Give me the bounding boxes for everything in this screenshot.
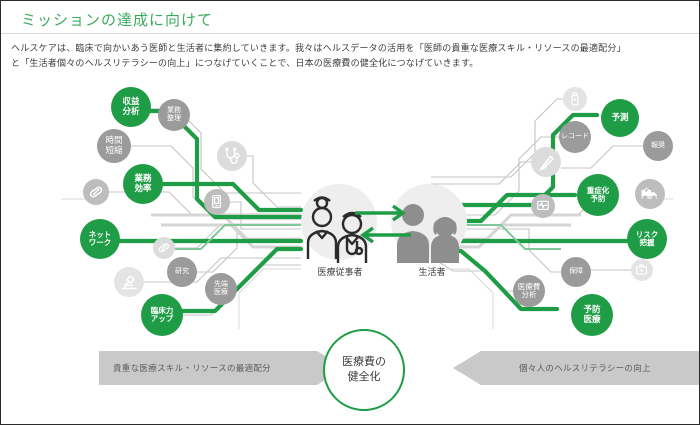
node-label: 重症化予防 xyxy=(587,187,610,204)
right-outcome-ribbon: 個々人のヘルスリテラシーの向上 xyxy=(453,351,700,385)
microscope-icon[interactable] xyxy=(114,267,144,297)
medkit-icon[interactable] xyxy=(631,259,653,281)
node-advanced-medicine[interactable]: 先端医療 xyxy=(205,273,237,305)
node-label-line: 把握 xyxy=(636,239,659,247)
node-risk-grasp[interactable]: リスク把握 xyxy=(627,219,667,259)
node-label-line: 先端 xyxy=(214,281,228,289)
node-label-line: 短縮 xyxy=(105,146,122,156)
node-label: 予防医療 xyxy=(583,305,600,324)
node-label: 先端医療 xyxy=(214,281,228,297)
node-label: 時間短縮 xyxy=(105,136,122,155)
node-label: 収益分析 xyxy=(122,97,139,116)
lead-line-2: と「生活者個々のヘルスリテラシーの向上」につなげていくことで、日本の医療費の健全… xyxy=(11,56,691,71)
node-label: 医療費分析 xyxy=(518,283,541,300)
node-work-efficiency[interactable]: 業務効率 xyxy=(123,164,163,204)
bottle-icon[interactable] xyxy=(563,87,587,111)
node-label: 研究 xyxy=(175,268,189,276)
node-label-line: 報奨 xyxy=(651,142,665,150)
node-label: レコード xyxy=(561,133,589,141)
node-insurance[interactable]: 保障 xyxy=(561,257,591,287)
node-label-line: レコード xyxy=(561,133,589,141)
node-prediction[interactable]: 予測 xyxy=(601,99,639,137)
lead-line-1: ヘルスケアは、臨床で向かいあう医師と生活者に集約していきます。我々はヘルスデータ… xyxy=(11,41,691,56)
node-label: ネットワーク xyxy=(89,231,112,248)
node-label: 報奨 xyxy=(651,142,665,150)
node-record[interactable]: レコード xyxy=(559,121,591,153)
node-label: 臨床力アップ xyxy=(151,307,174,324)
stethoscope-icon[interactable] xyxy=(217,141,247,171)
node-clinical-power-up[interactable]: 臨床力アップ xyxy=(141,294,183,336)
node-label-line: 予防 xyxy=(587,195,610,203)
node-network[interactable]: ネットワーク xyxy=(80,219,120,259)
node-revenue-analysis[interactable]: 収益分析 xyxy=(111,87,151,127)
goal-line-2: 健全化 xyxy=(348,370,381,385)
page-title: ミッションの達成に向けて xyxy=(21,9,213,30)
device-icon[interactable] xyxy=(204,189,230,215)
node-task-organization[interactable]: 業務整理 xyxy=(158,99,190,131)
right-outcome-text: 個々人のヘルスリテラシーの向上 xyxy=(519,362,651,374)
lead-paragraph: ヘルスケアは、臨床で向かいあう医師と生活者に集約していきます。我々はヘルスデータ… xyxy=(11,41,691,71)
monitor-icon[interactable] xyxy=(531,194,555,218)
node-label-line: 予測 xyxy=(611,113,628,123)
node-label: 業務整理 xyxy=(167,107,181,123)
node-label-line: ワーク xyxy=(89,239,112,247)
node-time-reduction[interactable]: 時間短縮 xyxy=(97,129,131,163)
node-research[interactable]: 研究 xyxy=(167,257,197,287)
node-label-line: 分析 xyxy=(122,107,139,117)
consumer-label: 生活者 xyxy=(389,265,475,278)
node-label: 保障 xyxy=(569,268,583,276)
node-label-line: アップ xyxy=(151,315,174,323)
node-label-line: 業務 xyxy=(167,107,181,115)
goal-line-1: 医療費の xyxy=(342,355,386,370)
node-label: 業務効率 xyxy=(134,174,151,193)
provider-label: 医療従事者 xyxy=(297,265,383,278)
exchange-arrows-icon xyxy=(353,201,413,249)
ambulance-icon[interactable] xyxy=(635,179,665,209)
node-label-line: 研究 xyxy=(175,268,189,276)
pill-icon[interactable] xyxy=(153,237,175,259)
left-outcome-ribbon: 貴重な医療スキル・リソースの最適配分 xyxy=(99,351,345,385)
slide-page: ミッションの達成に向けて ヘルスケアは、臨床で向かいあう医師と生活者に集約してい… xyxy=(0,0,700,425)
title-divider xyxy=(1,33,700,34)
node-label: リスク把握 xyxy=(636,231,659,248)
node-medical-cost-analysis[interactable]: 医療費分析 xyxy=(513,275,545,307)
node-reward[interactable]: 報奨 xyxy=(643,131,673,161)
node-label-line: 分析 xyxy=(518,291,541,299)
node-label-line: 保障 xyxy=(569,268,583,276)
node-label-line: 整理 xyxy=(167,115,181,123)
goal-circle: 医療費の 健全化 xyxy=(323,329,405,411)
left-outcome-text: 貴重な医療スキル・リソースの最適配分 xyxy=(113,362,271,374)
node-preventive-medicine[interactable]: 予防医療 xyxy=(571,294,613,336)
pill-icon[interactable] xyxy=(83,179,109,205)
thermometer-icon[interactable] xyxy=(531,147,561,177)
node-severity-prevention[interactable]: 重症化予防 xyxy=(577,174,619,216)
node-label-line: 医療 xyxy=(583,315,600,325)
node-label-line: 効率 xyxy=(134,184,151,194)
node-label: 予測 xyxy=(611,113,628,123)
node-label-line: 医療 xyxy=(214,289,228,297)
